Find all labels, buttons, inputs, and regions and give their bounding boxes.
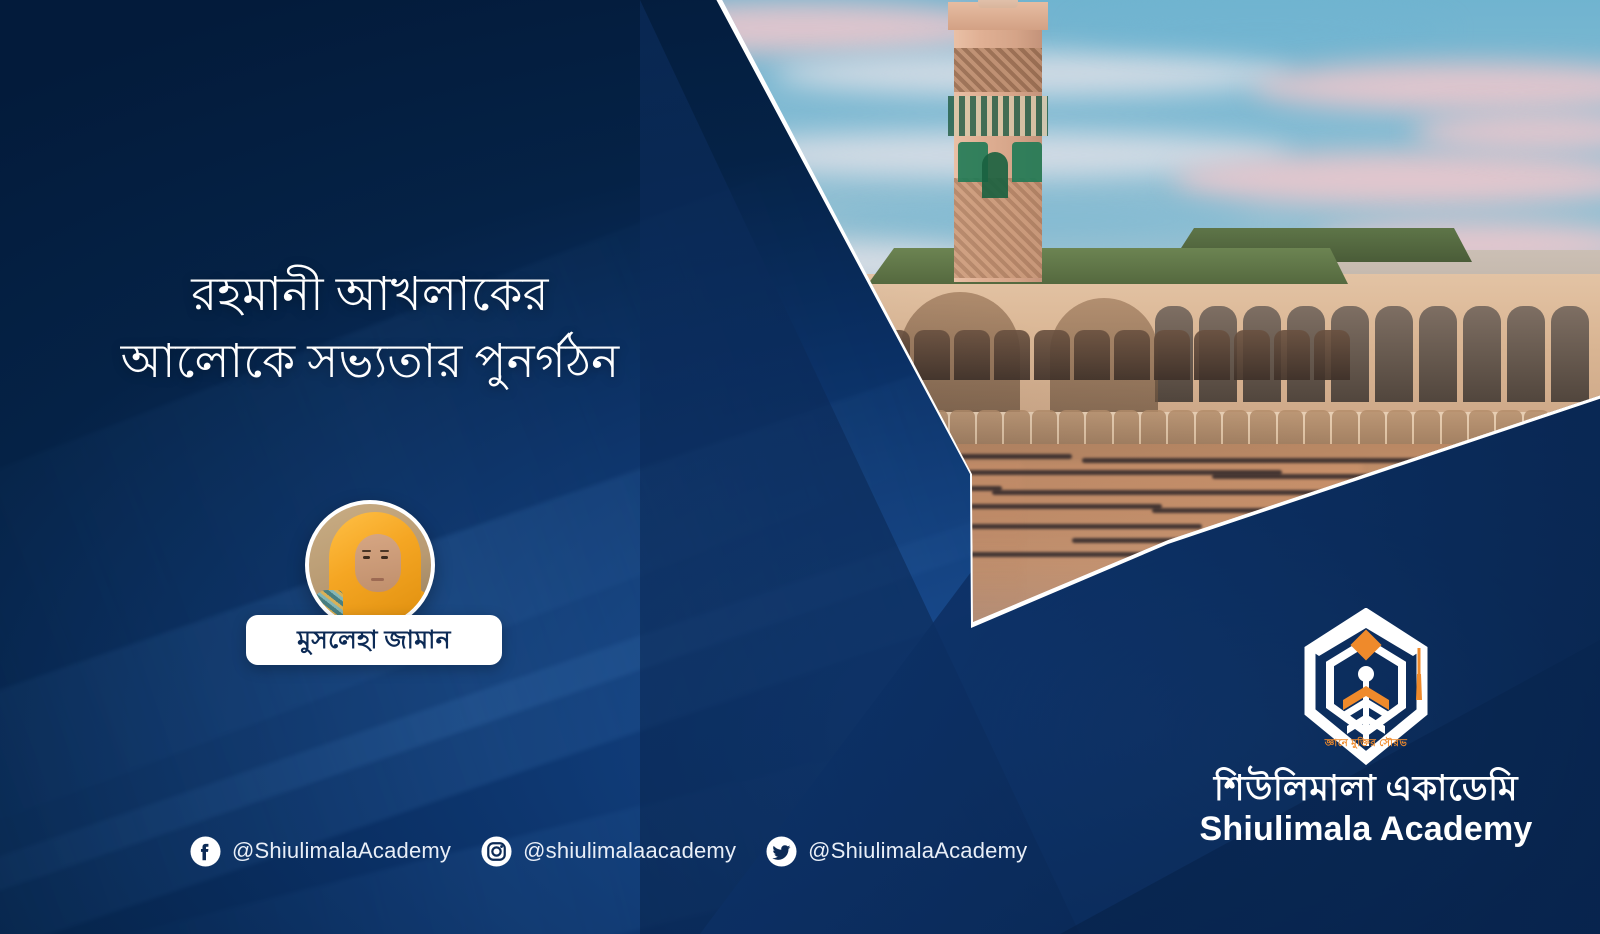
facebook-handle[interactable]: @ShiulimalaAcademy (232, 838, 451, 864)
speaker-name-badge: মুসলেহা জামান (246, 615, 502, 665)
twitter-handle[interactable]: @ShiulimalaAcademy (808, 838, 1027, 864)
instagram-handle[interactable]: @shiulimalaacademy (523, 838, 736, 864)
speaker-name: মুসলেহা জামান (297, 628, 451, 653)
twitter-icon[interactable] (766, 836, 797, 867)
title-line-2: আলোকে সভ্যতার পুনর্গঠন (40, 329, 700, 396)
academy-logo: জ্ঞানে মুক্তির সৌরভ শিউলিমালা একাডেমি Sh… (1186, 608, 1546, 880)
logo-name-en: Shiulimala Academy (1199, 810, 1532, 849)
speaker-avatar (305, 500, 435, 630)
social-item-instagram[interactable]: @shiulimalaacademy (481, 836, 736, 867)
banner-title: রহমানী আখলাকের আলোকে সভ্যতার পুনর্গঠন (40, 262, 700, 395)
academy-emblem-icon: জ্ঞানে মুক্তির সৌরভ (1291, 608, 1441, 768)
social-item-facebook[interactable]: @ShiulimalaAcademy (190, 836, 451, 867)
avatar-image (309, 504, 431, 626)
logo-tagline: জ্ঞানে মুক্তির সৌরভ (1291, 736, 1441, 753)
facebook-icon[interactable] (190, 836, 221, 867)
social-links: @ShiulimalaAcademy @shiulimalaacademy @S… (190, 830, 1027, 872)
event-banner: রহমানী আখলাকের আলোকে সভ্যতার পুনর্গঠন মু… (0, 0, 1600, 934)
instagram-icon[interactable] (481, 836, 512, 867)
title-line-1: রহমানী আখলাকের (40, 262, 700, 329)
social-item-twitter[interactable]: @ShiulimalaAcademy (766, 836, 1027, 867)
logo-name-bn: শিউলিমালা একাডেমি (1214, 770, 1518, 809)
